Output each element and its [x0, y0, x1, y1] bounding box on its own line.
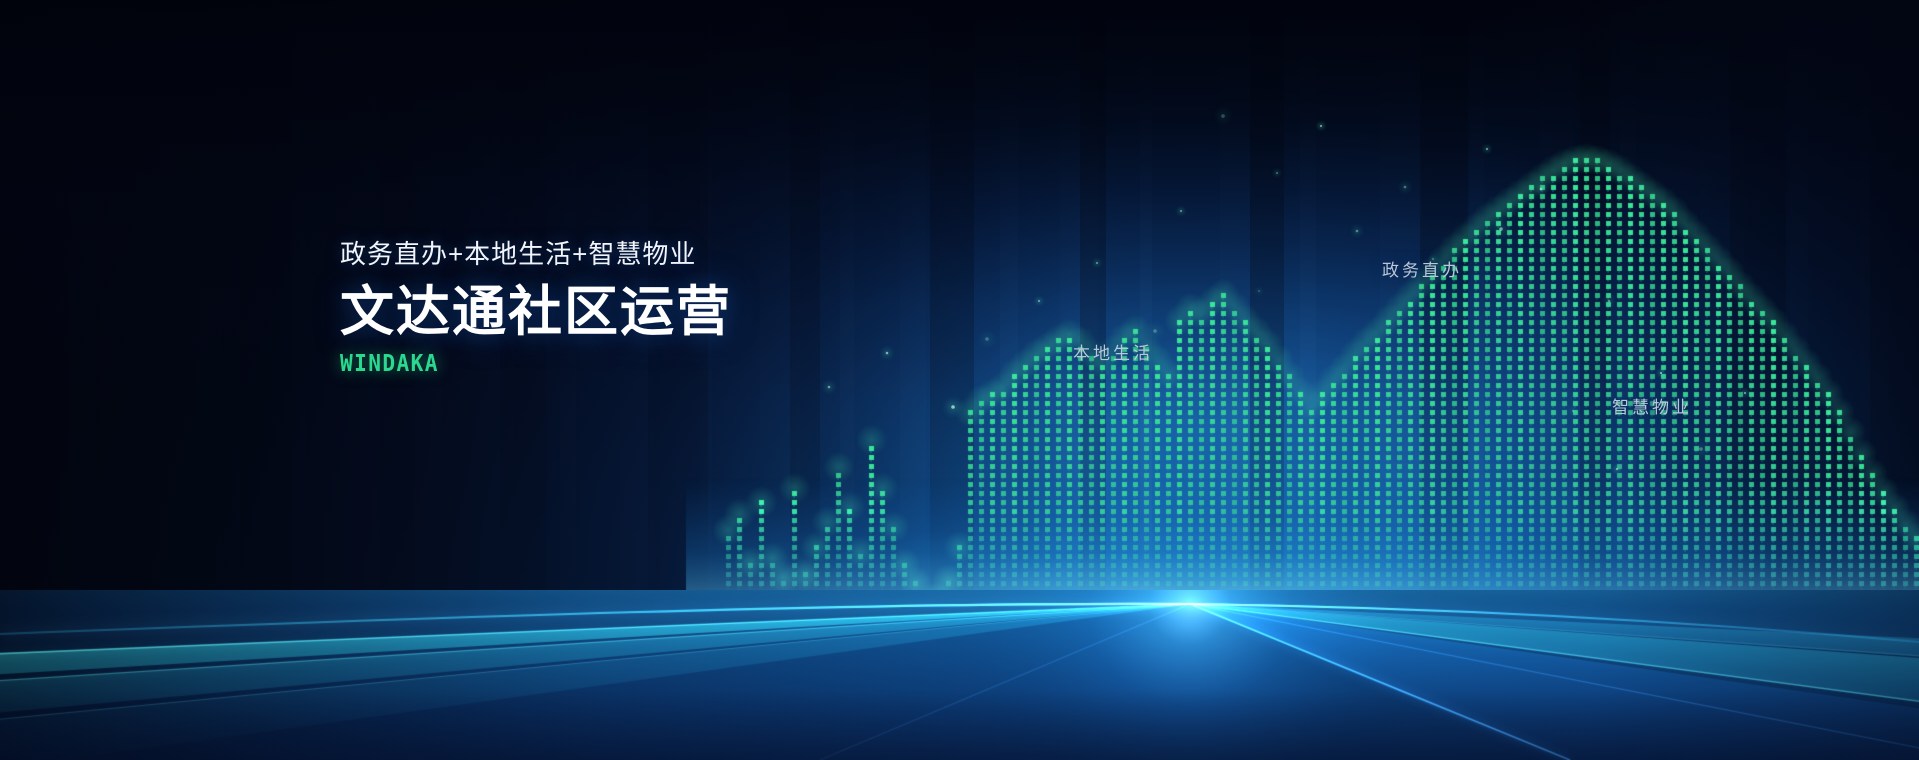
perspective-ground	[0, 590, 1919, 760]
hero-copy: 政务直办+本地生活+智慧物业 文达通社区运营 WINDAKA	[340, 238, 1040, 377]
city-label-bendishenghuo: 本地生活	[1073, 339, 1153, 364]
page-title: 文达通社区运营	[340, 281, 1040, 344]
city-label-zhengwuzhiban: 政务直办	[1382, 256, 1462, 281]
hero-subtitle: 政务直办+本地生活+智慧物业	[340, 238, 1040, 271]
city-label-zhihuiwuye: 智慧物业	[1612, 393, 1692, 418]
hero-banner: 政务直办+本地生活+智慧物业 文达通社区运营 WINDAKA 政务直办 本地生活…	[0, 0, 1919, 760]
brand-wordmark: WINDAKA	[340, 351, 984, 377]
